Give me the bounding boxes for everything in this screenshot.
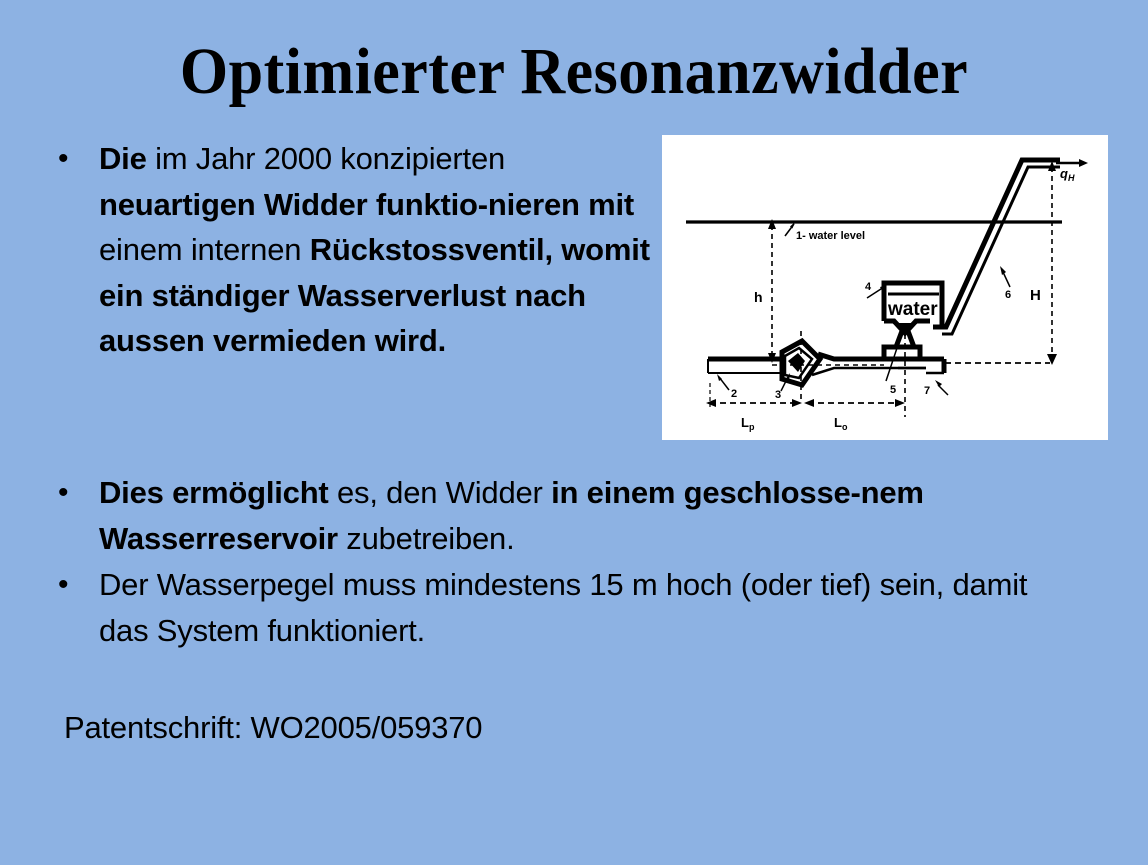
slide-root: Optimierter Resonanzwidder • Die im Jahr…	[0, 0, 1148, 865]
patent-reference: Patentschrift: WO2005/059370	[64, 708, 482, 748]
callout-7-arrowhead	[935, 380, 942, 387]
delivery-pipe-outer	[933, 160, 1060, 327]
chamber-water-label: water	[887, 299, 938, 320]
bullet-text-3: Der Wasserpegel muss mindestens 15 m hoc…	[99, 562, 1059, 653]
water-level-label: 1- water level	[796, 230, 865, 242]
dim-H-label: H	[1030, 287, 1041, 304]
callout-2-label: 2	[731, 388, 737, 400]
dim-Lo-arrow-left	[804, 399, 814, 407]
hydraulic-ram-svg: 1- water level 2 3	[662, 135, 1108, 440]
outflow-label: qH	[1060, 166, 1075, 183]
callout-6-label: 6	[1005, 289, 1011, 301]
bullet-text-2: Dies ermöglicht es, den Widder in einem …	[99, 470, 1109, 561]
page-title: Optimierter Resonanzwidder	[34, 34, 1113, 110]
bullet-marker-2: •	[58, 470, 74, 515]
callout-4-label: 4	[865, 281, 872, 293]
waste-valve-poppet	[788, 353, 805, 372]
bullet-text-1: Die im Jahr 2000 konzipierten neuartigen…	[99, 136, 659, 364]
bullet-marker-1: •	[58, 136, 74, 181]
body-pipe-top	[818, 354, 926, 359]
dim-Lp-arrow-right	[792, 399, 802, 407]
dim-Lo-arrow-right	[895, 399, 905, 407]
outflow-arrow-head	[1079, 159, 1088, 167]
callout-6-leader	[1003, 272, 1010, 287]
callout-7-label: 7	[924, 385, 930, 397]
dim-Lo-label: Lo	[834, 415, 848, 432]
callout-3-label: 3	[775, 389, 781, 401]
callout-6-arrowhead	[1000, 266, 1006, 275]
hydraulic-ram-diagram: 1- water level 2 3	[662, 135, 1108, 440]
callout-5-label: 5	[890, 384, 896, 396]
dim-h-label: h	[754, 289, 763, 305]
dim-Lp-arrow-left	[706, 399, 716, 407]
dim-Lp-label: Lp	[741, 415, 755, 432]
delivery-pipe-inner	[942, 167, 1060, 334]
bullet-marker-3: •	[58, 562, 74, 607]
